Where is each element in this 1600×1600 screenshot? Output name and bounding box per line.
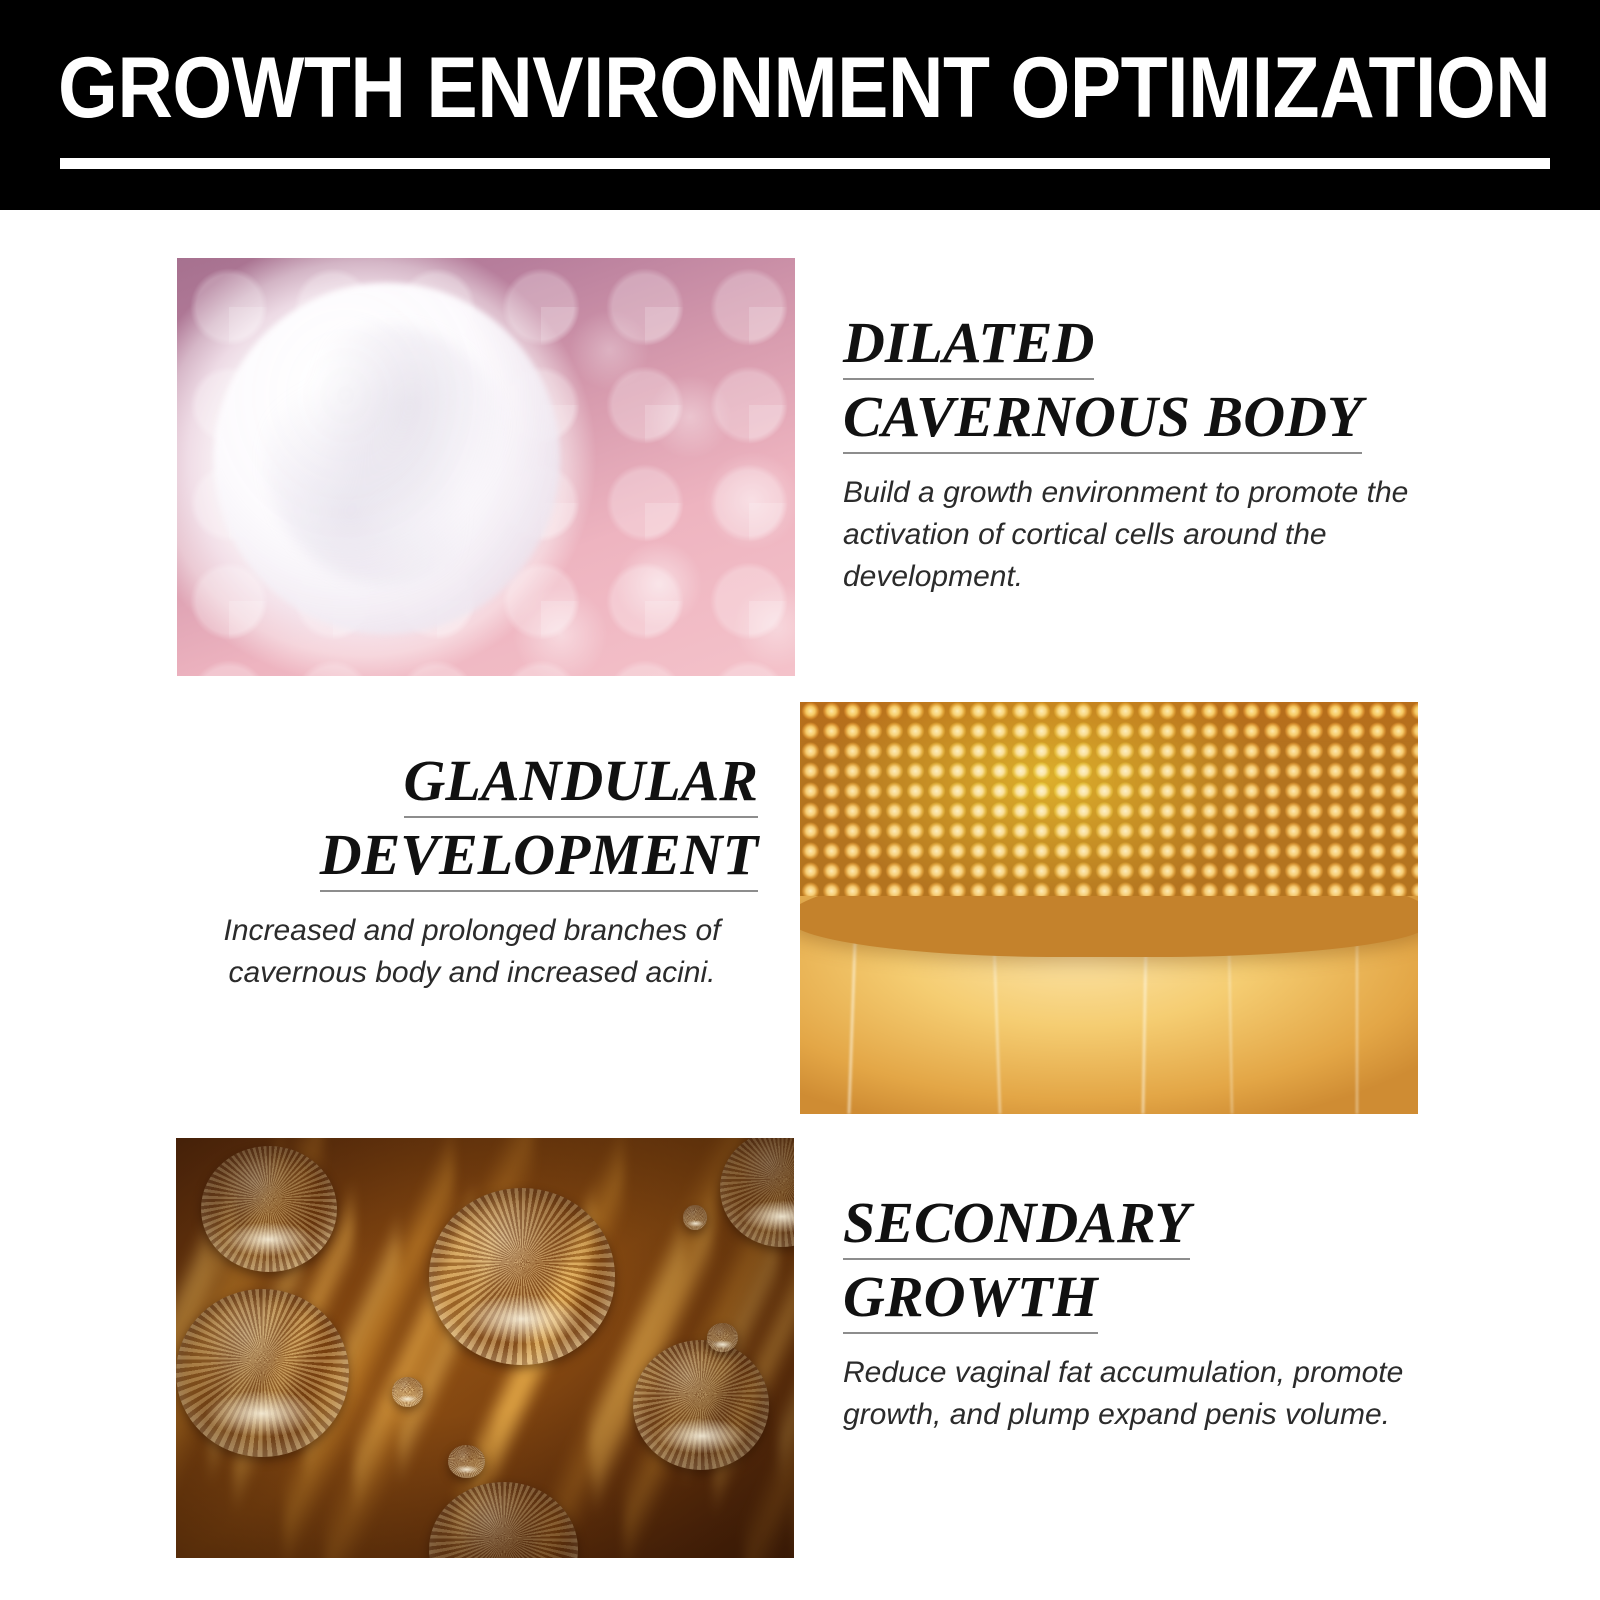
- text-block-secondary-growth: SECONDARY GROWTH Reduce vaginal fat accu…: [843, 1192, 1443, 1436]
- heading-line-2: GROWTH: [843, 1266, 1098, 1334]
- bead-shading: [800, 702, 1418, 896]
- body-text: Reduce vaginal fat accumulation, promote…: [843, 1352, 1443, 1436]
- text-block-glandular-development: GLANDULAR DEVELOPMENT Increased and prol…: [186, 750, 758, 994]
- header-banner: GROWTH ENVIRONMENT OPTIMIZATION: [0, 0, 1600, 210]
- panel-image-glandular-development: [800, 702, 1418, 1114]
- heading-line-1: SECONDARY: [843, 1192, 1190, 1260]
- heading-line-1: DILATED: [843, 312, 1094, 380]
- body-text: Increased and prolonged branches of cave…: [186, 910, 758, 994]
- heading-line-2: DEVELOPMENT: [320, 824, 758, 892]
- sphere-swirl-detail: [264, 325, 511, 584]
- panel-image-dilated-cavernous-body: [177, 258, 795, 676]
- panel-image-secondary-growth: [176, 1138, 794, 1558]
- text-block-dilated-cavernous-body: DILATED CAVERNOUS BODY Build a growth en…: [843, 312, 1443, 598]
- header-underline-rule: [60, 158, 1550, 169]
- body-text: Build a growth environment to promote th…: [843, 472, 1443, 598]
- vignette-overlay: [176, 1138, 794, 1558]
- heading-line-1: GLANDULAR: [404, 750, 758, 818]
- page-title: GROWTH ENVIRONMENT OPTIMIZATION: [58, 42, 1392, 134]
- heading-line-2: CAVERNOUS BODY: [843, 386, 1362, 454]
